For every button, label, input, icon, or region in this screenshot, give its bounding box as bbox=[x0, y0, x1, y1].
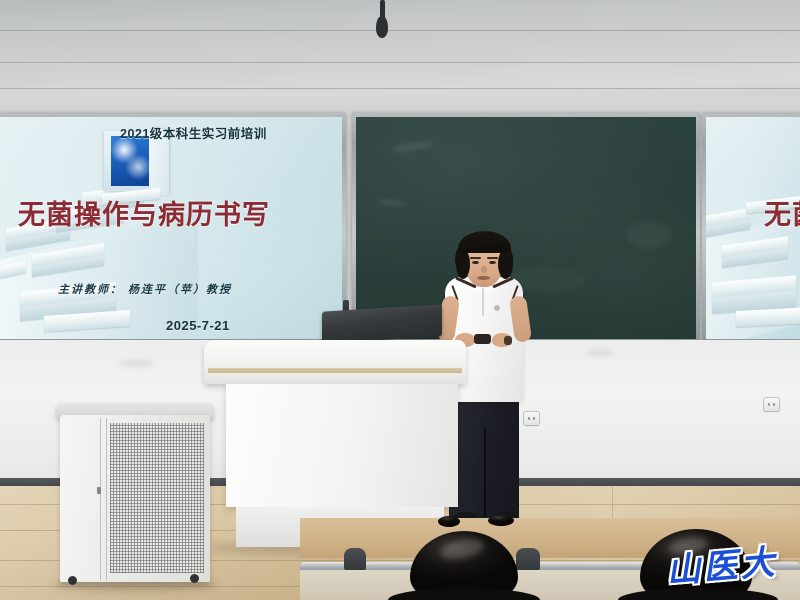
presenter-hair-side bbox=[456, 249, 470, 279]
cabinet-caster bbox=[68, 576, 77, 585]
slide-date-text: 2025-7-21 bbox=[166, 318, 230, 333]
slide-presenter-text: 主讲教师： 杨连平（苹）教授 bbox=[58, 281, 232, 297]
desk-object bbox=[438, 516, 460, 527]
desk-rail-post bbox=[516, 548, 540, 570]
presenter-nose bbox=[481, 266, 487, 273]
lectern-accent-stripe bbox=[208, 368, 462, 373]
slide-header-text: 2021级本科生实习前培训 bbox=[120, 123, 267, 142]
presenter-placket bbox=[482, 288, 484, 316]
lectern-body bbox=[226, 384, 458, 507]
ceiling-seam bbox=[0, 62, 800, 63]
wall-scuff bbox=[585, 350, 615, 356]
remote-clicker-icon[interactable] bbox=[474, 334, 491, 344]
chalk-smudge bbox=[626, 221, 672, 249]
slide-art-step bbox=[736, 307, 800, 327]
ceiling-seam bbox=[0, 30, 800, 31]
slide-right: 无菌 bbox=[706, 117, 800, 339]
cabinet-handle[interactable] bbox=[97, 487, 101, 494]
chalk-smudge bbox=[392, 140, 435, 153]
lectern-top bbox=[204, 340, 466, 384]
right-screen-surface[interactable]: 无菌 bbox=[706, 117, 800, 339]
presenter-hair-side bbox=[498, 249, 513, 279]
presenter-brow bbox=[487, 257, 498, 259]
cabinet-door-seam bbox=[100, 418, 101, 580]
presenter-shirt-logo bbox=[494, 305, 500, 311]
cabinet-door-seam bbox=[106, 418, 107, 580]
presenter-eye bbox=[489, 261, 496, 264]
presenter-eye bbox=[472, 261, 479, 264]
presenter-mouth bbox=[477, 276, 490, 280]
presenter-watch bbox=[504, 336, 512, 345]
ceiling bbox=[0, 0, 800, 102]
slide-title-text: 无菌操作与病历书写 bbox=[18, 193, 270, 232]
left-screen-frame: 2021级本科生实习前培训 无菌操作与病历书写 主讲教师： 杨连平（苹）教授 2… bbox=[0, 112, 346, 344]
chalk-smudge bbox=[378, 199, 404, 207]
cabinet-caster bbox=[190, 574, 199, 583]
slide-right-title-text: 无菌 bbox=[764, 193, 800, 232]
desk-object bbox=[488, 515, 514, 526]
slide-art-sky bbox=[111, 136, 149, 186]
ceiling-seam bbox=[0, 88, 800, 89]
presenter-leg-seam bbox=[484, 428, 486, 520]
presenter-brow bbox=[470, 257, 481, 259]
lecture-hall-photo: 2021级本科生实习前培训 无菌操作与病历书写 主讲教师： 杨连平（苹）教授 2… bbox=[0, 0, 800, 600]
ceiling-sensor-icon bbox=[376, 16, 388, 38]
cabinet-vent-mesh bbox=[110, 423, 204, 573]
wall-power-outlet[interactable] bbox=[764, 398, 779, 411]
desk-rail-post bbox=[344, 548, 366, 570]
wall-power-outlet[interactable] bbox=[524, 412, 539, 425]
wall-scuff bbox=[120, 360, 154, 367]
right-screen-frame: 无菌 bbox=[702, 112, 800, 344]
watermark-logo: 山医大 bbox=[664, 534, 779, 592]
left-screen-surface[interactable]: 2021级本科生实习前培训 无菌操作与病历书写 主讲教师： 杨连平（苹）教授 2… bbox=[0, 117, 342, 339]
slide-left: 2021级本科生实习前培训 无菌操作与病历书写 主讲教师： 杨连平（苹）教授 2… bbox=[0, 117, 342, 339]
